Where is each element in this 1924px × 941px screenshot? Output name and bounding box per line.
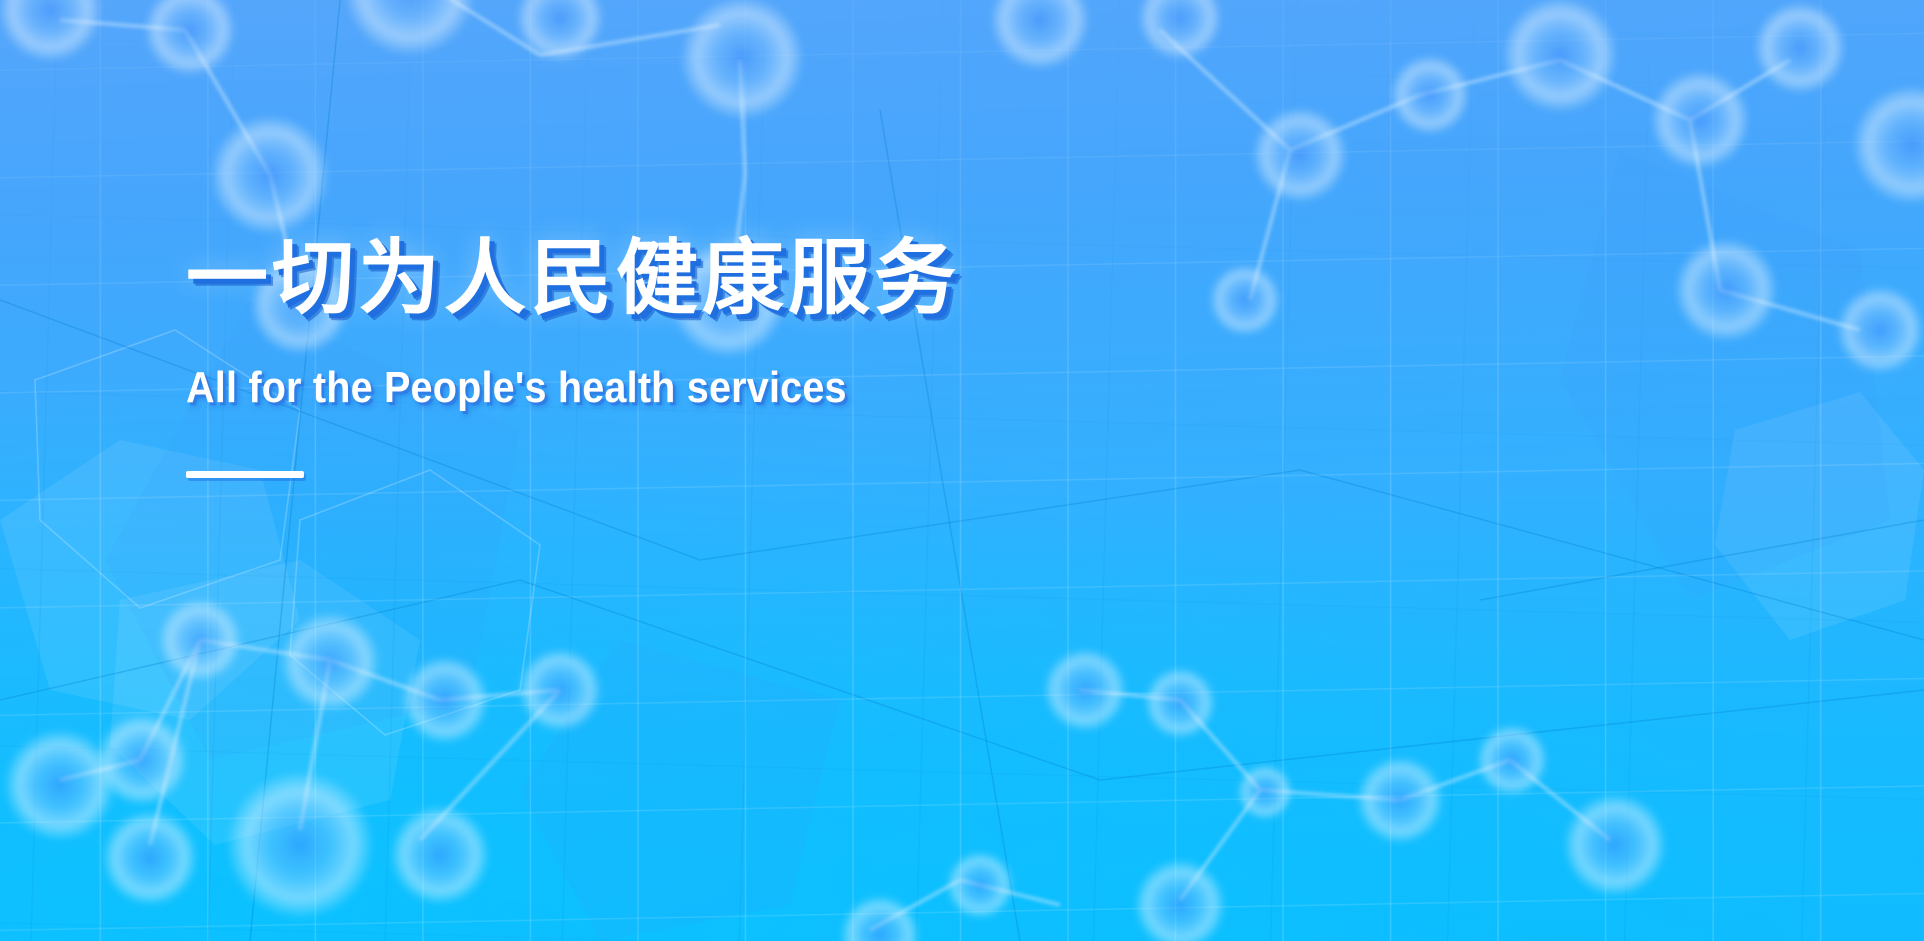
health-banner: 一切为人民健康服务 All for the People's health se… bbox=[0, 0, 1924, 941]
page-subtitle: All for the People's health services bbox=[186, 365, 996, 411]
title-divider bbox=[186, 471, 304, 478]
page-title: 一切为人民健康服务 bbox=[186, 236, 1086, 321]
shield-icon bbox=[1145, 96, 1785, 836]
banner-text-block: 一切为人民健康服务 All for the People's health se… bbox=[186, 236, 1086, 478]
shield-emblem bbox=[1145, 96, 1785, 836]
